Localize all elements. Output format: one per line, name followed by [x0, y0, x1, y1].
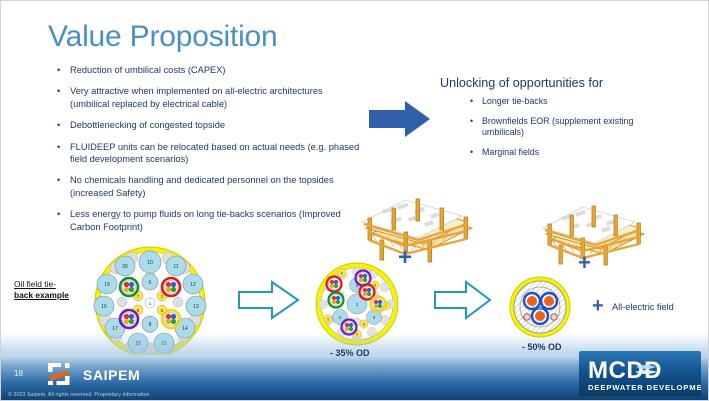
list-item-label: Marginal fields: [482, 147, 539, 157]
list-item-label: No chemicals handling and dedicated pers…: [70, 175, 334, 197]
mcdd-tagline: DEEPWATER DEVELOPMENT: [588, 383, 701, 392]
subsea-module-illustration-2: [534, 196, 652, 268]
svg-text:8: 8: [363, 322, 365, 326]
page-title: Value Proposition: [48, 20, 278, 54]
svg-text:5: 5: [327, 317, 329, 321]
list-item: • Debottlenecking of congested topside: [52, 119, 362, 131]
bullet-dot-icon: •: [57, 141, 60, 153]
svg-text:19: 19: [104, 282, 110, 288]
list-item: • Very attractive when implemented on al…: [52, 85, 362, 110]
oil-field-label-line2: back example: [14, 290, 69, 300]
list-item-label: Brownfields EOR (supplement existing umb…: [482, 116, 633, 138]
saipem-wordmark: SAIPEM: [83, 367, 140, 383]
list-item: • Reduction of umbilical costs (CAPEX): [52, 64, 362, 76]
list-item-label: Reduction of umbilical costs (CAPEX): [70, 65, 226, 75]
bullet-dot-icon: •: [57, 85, 60, 97]
list-item: • Less energy to pump fluids on long tie…: [52, 208, 362, 233]
svg-text:6: 6: [341, 271, 343, 275]
bullet-dot-icon: •: [57, 64, 60, 76]
caption-mid-od: - 35% OD: [330, 348, 370, 358]
subsea-module-illustration-1: [352, 188, 482, 266]
plus-symbol-3: +: [592, 296, 604, 316]
list-item-label: Debottlenecking of congested topside: [70, 120, 225, 130]
svg-text:6: 6: [149, 280, 152, 286]
bullet-dot-icon: •: [57, 119, 60, 131]
opportunities-list: • Longer tie-backs • Brownfields EOR (su…: [466, 96, 651, 166]
svg-text:10: 10: [147, 260, 153, 266]
list-item: • Brownfields EOR (supplement existing u…: [466, 116, 651, 139]
saipem-logo: SAIPEM: [48, 361, 168, 387]
all-electric-field-label: All-electric field: [612, 302, 674, 312]
plus-symbol-1: +: [398, 246, 412, 270]
transform-arrow-icon-1: [238, 280, 300, 320]
svg-text:13: 13: [193, 304, 199, 310]
svg-text:11: 11: [173, 264, 178, 270]
list-item-label: Less energy to pump fluids on long tie-b…: [70, 209, 341, 231]
svg-text:6: 6: [374, 283, 376, 287]
list-item: • Marginal fields: [466, 147, 651, 159]
electric-cable-cross-section: [508, 275, 572, 339]
bullet-dot-icon: •: [57, 174, 60, 186]
page-number: 18: [14, 369, 23, 378]
copyright-text: © 2023 Saipem. All rights reserved. Prop…: [8, 392, 150, 398]
list-item-label: Very attractive when implemented on all-…: [70, 86, 323, 108]
svg-text:20: 20: [122, 264, 128, 270]
svg-text:16: 16: [101, 304, 107, 310]
svg-text:17: 17: [112, 326, 118, 332]
svg-text:8: 8: [149, 322, 152, 328]
bullet-dot-icon: •: [57, 208, 60, 220]
svg-text:14: 14: [182, 326, 188, 332]
oil-field-example-label: Oil field tie- back example: [14, 279, 88, 301]
list-item-label: Longer tie-backs: [482, 96, 548, 106]
svg-text:12: 12: [190, 282, 196, 288]
list-item: • No chemicals handling and dedicated pe…: [52, 174, 362, 199]
right-arrow-icon: [369, 99, 431, 139]
plus-symbol-2: +: [578, 252, 591, 274]
transform-arrow-icon-2: [434, 280, 492, 320]
caption-right-od: - 50% OD: [522, 342, 562, 352]
mcdd-logo: MCDD DEEPWATER DEVELOPMENT: [579, 351, 701, 396]
bullet-dot-icon: •: [470, 147, 473, 159]
list-item-label: FLUIDEEP units can be relocated based on…: [70, 142, 359, 164]
slide-canvas: Value Proposition • Reduction of umbilic…: [0, 0, 709, 401]
list-item: • FLUIDEEP units can be relocated based …: [52, 141, 362, 166]
bullet-dot-icon: •: [470, 116, 473, 128]
list-item: • Longer tie-backs: [466, 96, 651, 108]
oil-field-label-line1: Oil field tie-: [14, 279, 56, 289]
bullet-dot-icon: •: [470, 96, 473, 108]
opportunities-heading: Unlocking of opportunities for: [440, 76, 603, 90]
value-proposition-list: • Reduction of umbilical costs (CAPEX) •…: [52, 64, 362, 242]
